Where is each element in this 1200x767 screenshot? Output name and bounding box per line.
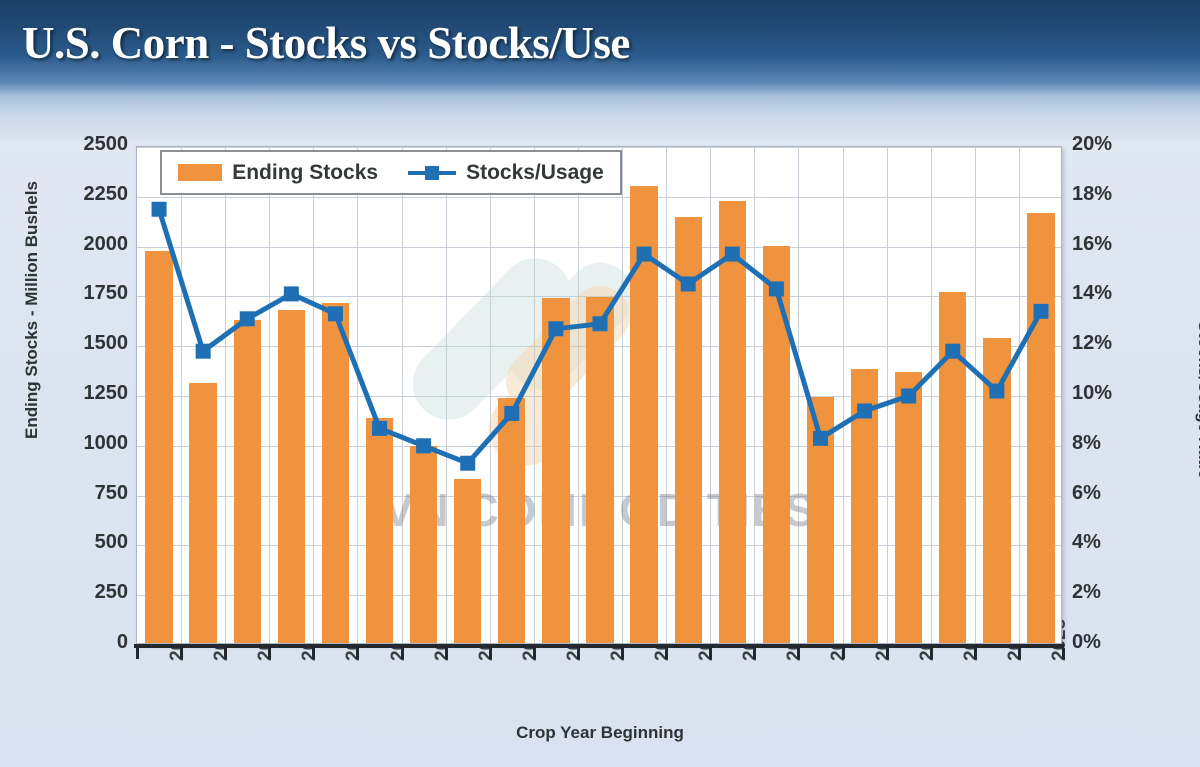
x-tickmark	[136, 648, 139, 659]
x-tickmark	[1018, 648, 1021, 659]
marker-2009	[328, 306, 343, 321]
left-tick-750: 750	[0, 482, 136, 505]
marker-2014	[548, 321, 563, 336]
marker-2023	[945, 344, 960, 359]
left-tick-0: 0	[0, 631, 136, 654]
legend-label-ending-stocks: Ending Stocks	[232, 161, 378, 185]
right-tick-10%: 10%	[1072, 382, 1142, 405]
right-tick-18%: 18%	[1072, 183, 1142, 206]
left-tick-1750: 1750	[0, 282, 136, 305]
page-title: U.S. Corn - Stocks vs Stocks/Use	[22, 17, 630, 69]
x-tickmark	[533, 648, 536, 659]
marker-2019	[769, 281, 784, 296]
right-tick-8%: 8%	[1072, 432, 1142, 455]
legend-item-ending-stocks: Ending Stocks	[178, 161, 378, 185]
stocks-usage-markers	[152, 202, 1049, 471]
marker-2021	[857, 403, 872, 418]
legend-item-stocks-usage: Stocks/Usage	[408, 161, 604, 185]
marker-2022	[901, 389, 916, 404]
right-tick-14%: 14%	[1072, 282, 1142, 305]
x-tickmark	[930, 648, 933, 659]
marker-2018	[725, 247, 740, 262]
left-tick-2250: 2250	[0, 183, 136, 206]
x-tickmark	[489, 648, 492, 659]
marker-2015	[593, 316, 608, 331]
marker-2016	[637, 247, 652, 262]
blue-line-marker-swatch-icon	[408, 165, 456, 181]
x-tickmark	[842, 648, 845, 659]
x-tickmark	[445, 648, 448, 659]
marker-2011	[416, 438, 431, 453]
right-tick-20%: 20%	[1072, 133, 1142, 156]
right-tick-2%: 2%	[1072, 581, 1142, 604]
marker-2012	[460, 456, 475, 471]
marker-2005	[152, 202, 167, 217]
x-tickmark	[577, 648, 580, 659]
left-tick-500: 500	[0, 531, 136, 554]
x-axis-title: Crop Year Beginning	[0, 723, 1200, 743]
marker-2020	[813, 431, 828, 446]
line-series	[137, 147, 1062, 644]
x-tickmark	[709, 648, 712, 659]
left-tick-1000: 1000	[0, 432, 136, 455]
x-tickmark	[312, 648, 315, 659]
right-tick-16%: 16%	[1072, 233, 1142, 256]
x-tickmark	[268, 648, 271, 659]
left-tick-2000: 2000	[0, 233, 136, 256]
header-gradient-fade	[0, 96, 1200, 142]
right-tick-12%: 12%	[1072, 332, 1142, 355]
plot-area: VN COMMODITIES	[136, 146, 1062, 644]
orange-square-swatch-icon	[178, 164, 222, 181]
right-tick-0%: 0%	[1072, 631, 1142, 654]
left-tick-1500: 1500	[0, 332, 136, 355]
x-axis-line	[134, 644, 1064, 648]
right-axis-title: Stocks/Usage Ratio	[1194, 200, 1200, 600]
header-banner: U.S. Corn - Stocks vs Stocks/Use	[0, 0, 1200, 96]
left-tick-1250: 1250	[0, 382, 136, 405]
x-tickmark	[797, 648, 800, 659]
x-tickmark	[401, 648, 404, 659]
x-tickmark	[974, 648, 977, 659]
x-tickmark	[1062, 648, 1065, 659]
x-tickmark	[665, 648, 668, 659]
x-tickmark	[356, 648, 359, 659]
legend-label-stocks-usage: Stocks/Usage	[466, 161, 604, 185]
marker-2025	[1033, 304, 1048, 319]
left-tick-2500: 2500	[0, 133, 136, 156]
left-tick-250: 250	[0, 581, 136, 604]
x-tickmark	[886, 648, 889, 659]
x-tickmark	[753, 648, 756, 659]
x-tickmark	[180, 648, 183, 659]
marker-2006	[196, 344, 211, 359]
chart-page: U.S. Corn - Stocks vs Stocks/Use Ending …	[0, 0, 1200, 767]
marker-2008	[284, 286, 299, 301]
stocks-usage-line	[159, 209, 1041, 463]
marker-2007	[240, 311, 255, 326]
x-tickmark	[224, 648, 227, 659]
marker-2017	[681, 276, 696, 291]
chart-legend: Ending Stocks Stocks/Usage	[160, 150, 622, 195]
right-tick-4%: 4%	[1072, 531, 1142, 554]
x-tickmark	[621, 648, 624, 659]
right-tick-6%: 6%	[1072, 482, 1142, 505]
marker-2024	[989, 384, 1004, 399]
marker-2010	[372, 421, 387, 436]
marker-2013	[504, 406, 519, 421]
